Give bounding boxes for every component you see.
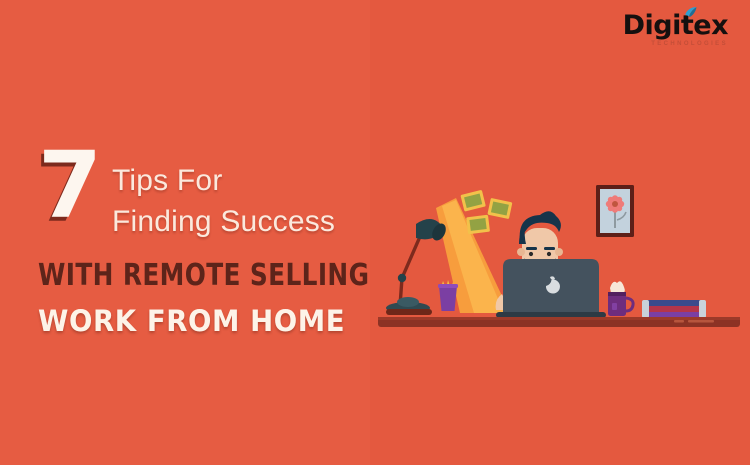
headline-line-3: WITH REMOTE SELLING <box>38 258 342 293</box>
illustration-svg <box>378 170 740 350</box>
coffee-mug-icon <box>608 281 633 316</box>
headline-number: 7 <box>38 150 100 222</box>
laptop-icon <box>496 259 606 320</box>
sticky-notes-icon <box>460 190 512 234</box>
desk-surface-icon <box>378 317 740 327</box>
headline-row-primary: 7 Tips For Finding Success <box>38 148 368 242</box>
remote-worker-illustration <box>378 170 740 350</box>
headline-line-2: Finding Success <box>112 201 335 242</box>
brand-logo[interactable]: Digitex TECHNOLOGIES <box>623 12 728 47</box>
headline-light-lines: Tips For Finding Success <box>112 148 335 242</box>
headline-block: 7 Tips For Finding Success WITH REMOTE S… <box>38 148 368 338</box>
pencil-cup-icon <box>438 280 458 311</box>
logo-tagline: TECHNOLOGIES <box>623 41 728 47</box>
headline-line-4: WORK FROM HOME <box>38 304 352 338</box>
desk-lamp-icon <box>386 219 449 315</box>
framed-flower-picture-icon <box>596 185 634 237</box>
book-stack-icon <box>642 300 706 318</box>
logo-wordmark: Digitex <box>623 12 728 39</box>
banner-root: Digitex TECHNOLOGIES 7 Tips For Finding … <box>0 0 750 465</box>
headline-line-1: Tips For <box>112 148 335 201</box>
